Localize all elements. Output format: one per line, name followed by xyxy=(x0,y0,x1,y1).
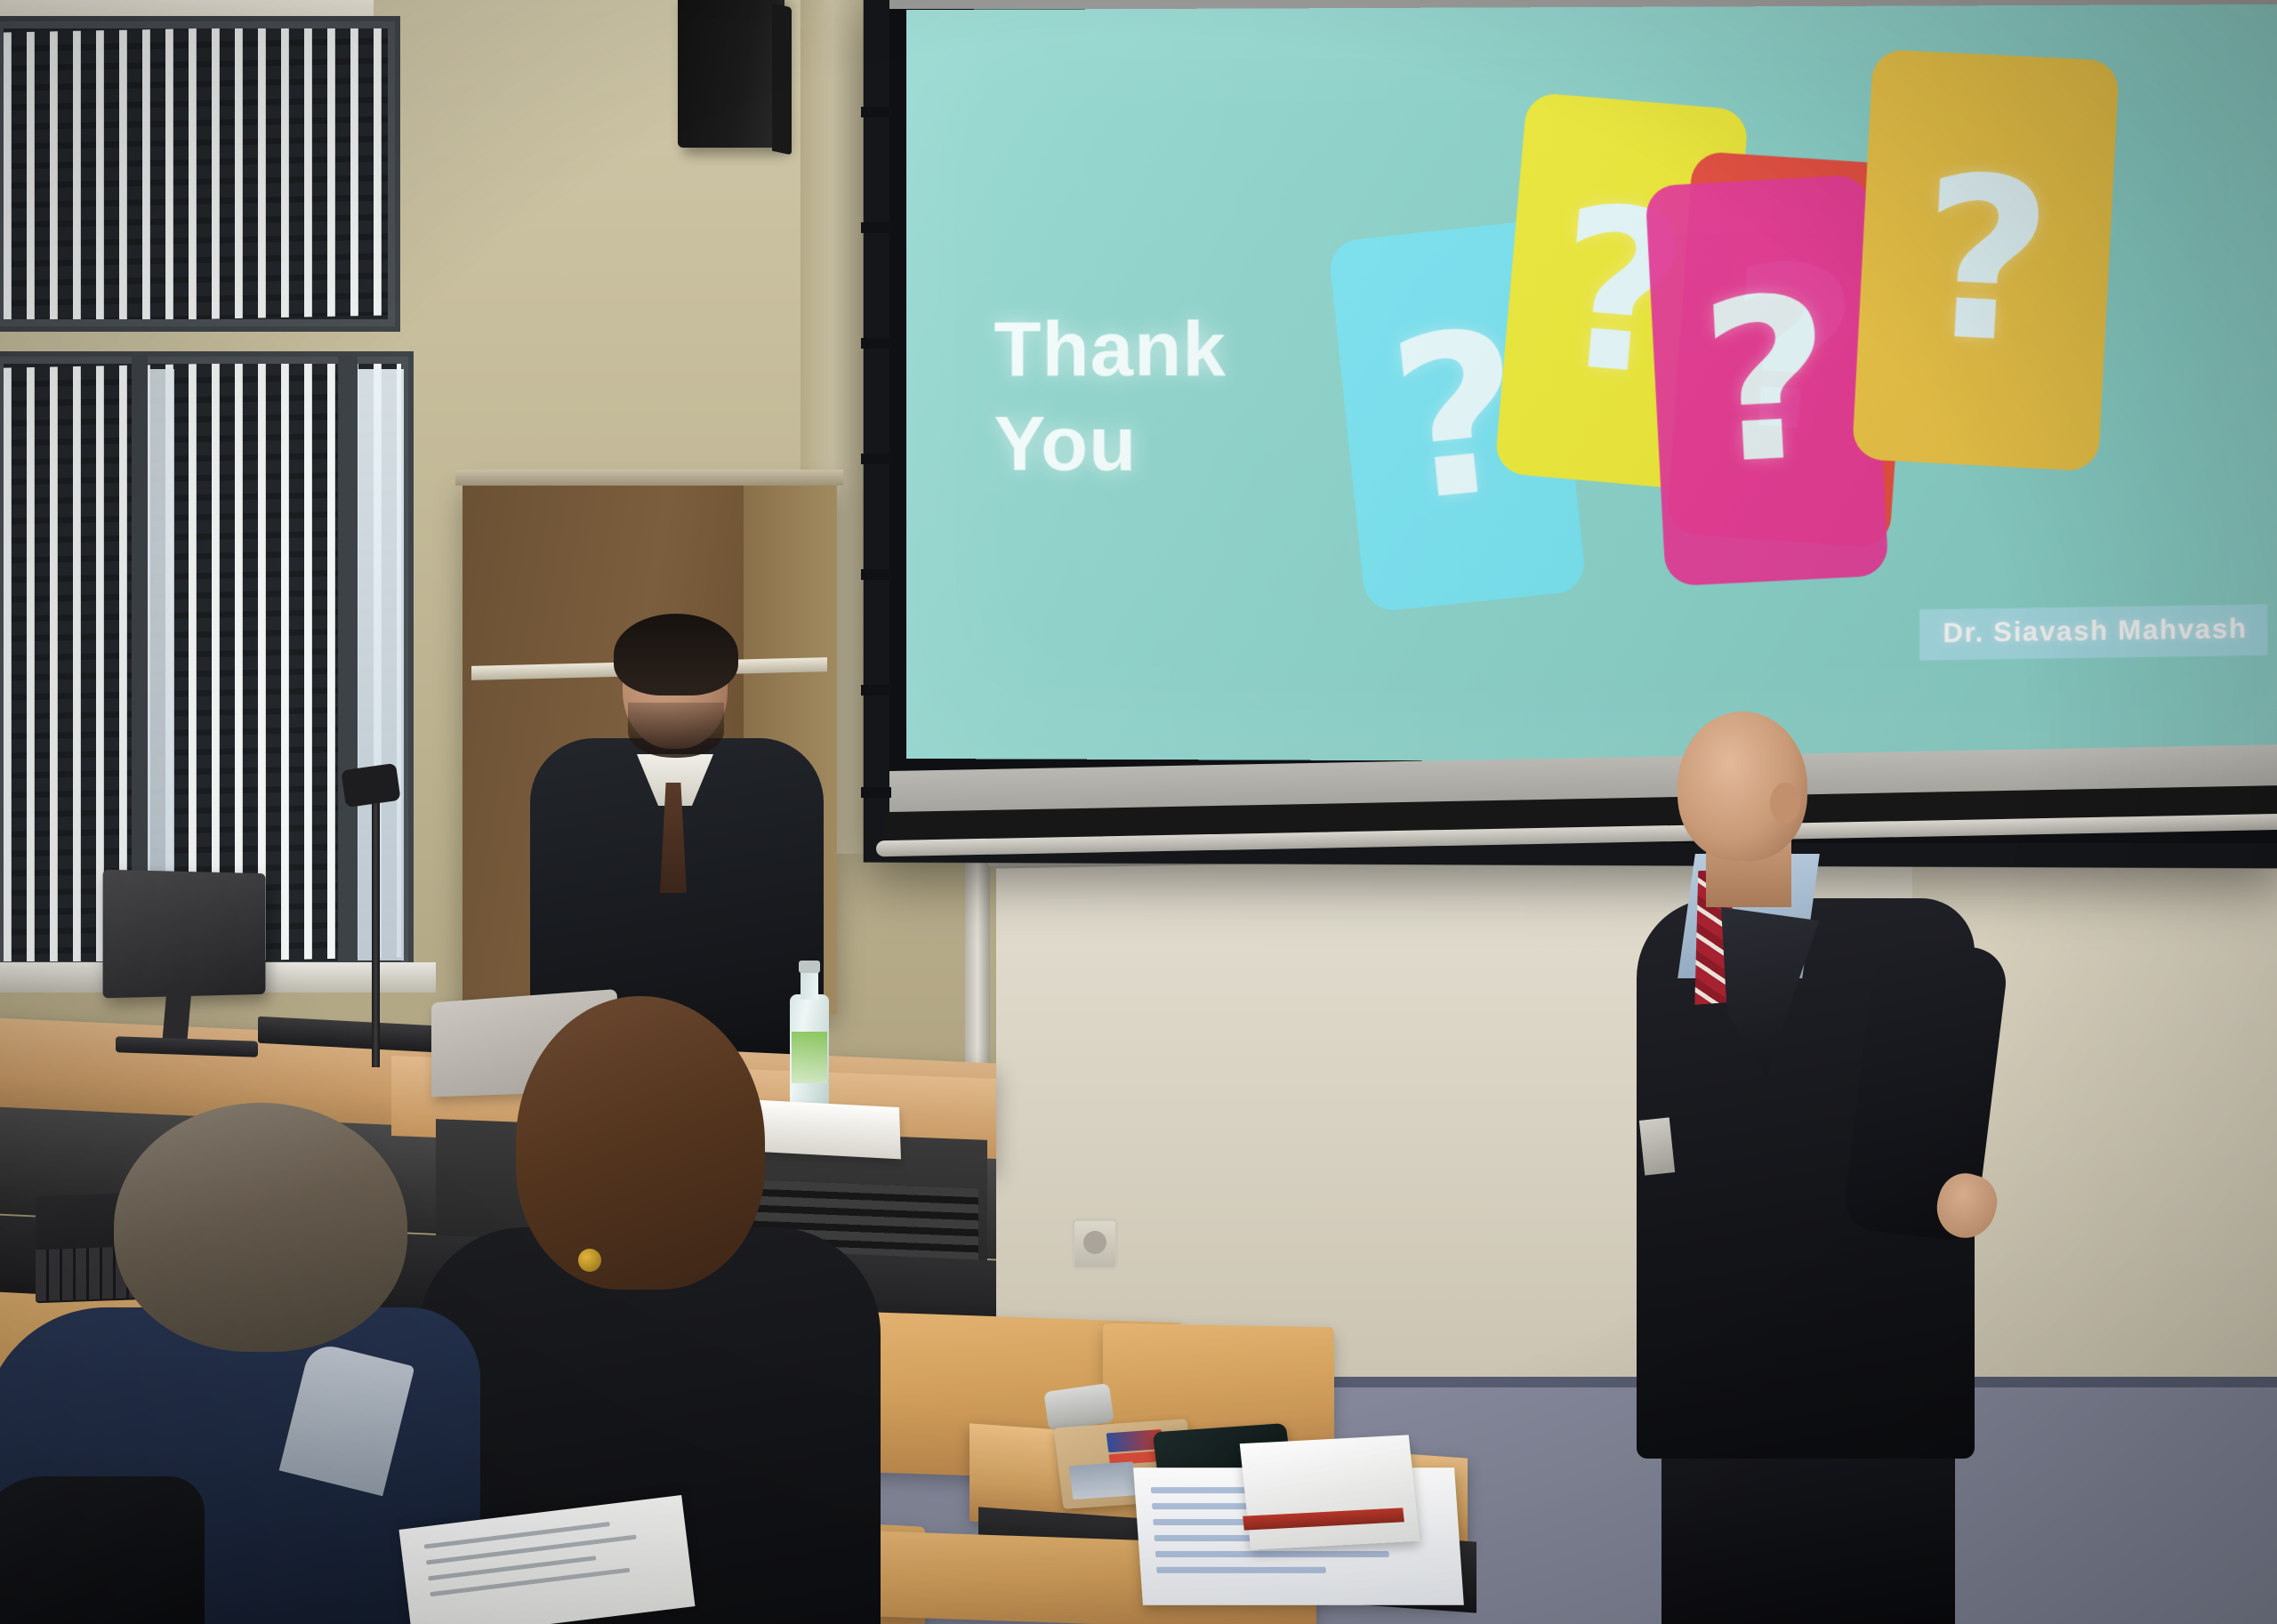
window-mullion xyxy=(338,356,358,969)
presenter-hair xyxy=(614,614,738,695)
pink-question-card: ? xyxy=(1645,174,1888,586)
projected-slide: Thank You ? ? ? ? ? Dr. Siavash Mahvash xyxy=(906,4,2277,764)
question-card-group: ? ? ? ? ? xyxy=(1275,58,2275,559)
wood-cabinet-top xyxy=(455,470,843,486)
wall-speaker-side xyxy=(772,4,792,156)
roller-blind-icon xyxy=(4,28,388,319)
microphone-stand xyxy=(372,783,380,1067)
bottle-cap xyxy=(799,961,820,973)
presenter-beard xyxy=(628,703,724,758)
monitor-neck xyxy=(162,987,191,1042)
wall-speaker-icon xyxy=(678,0,784,148)
bottle-label xyxy=(792,1032,827,1083)
window-upper xyxy=(0,16,400,332)
presenter-name-band: Dr. Siavash Mahvash xyxy=(1919,604,2267,660)
presenter-name-label: Dr. Siavash Mahvash xyxy=(1943,613,2248,648)
lecture-hall-photo: Thank You ? ? ? ? ? Dr. Siavash Mahvash xyxy=(0,0,2277,1624)
wallet-card xyxy=(1069,1461,1138,1499)
wall-socket-icon xyxy=(1072,1218,1118,1270)
screen-side-hooks xyxy=(861,36,891,818)
standing-man-ear xyxy=(1770,783,1800,824)
seated-woman-hair xyxy=(516,996,765,1290)
booklet xyxy=(1240,1435,1420,1549)
seated-woman-brooch xyxy=(578,1249,601,1272)
slide-title: Thank You xyxy=(994,301,1226,491)
seated-man-head xyxy=(114,1103,407,1352)
foreground-shoulder xyxy=(0,1476,205,1624)
standing-man-pocket-item xyxy=(1639,1117,1675,1175)
window-glass-strip xyxy=(358,369,404,961)
microphone-head-icon xyxy=(341,763,400,808)
desktop-monitor xyxy=(103,870,266,999)
gold-question-card: ? xyxy=(1852,49,2120,471)
